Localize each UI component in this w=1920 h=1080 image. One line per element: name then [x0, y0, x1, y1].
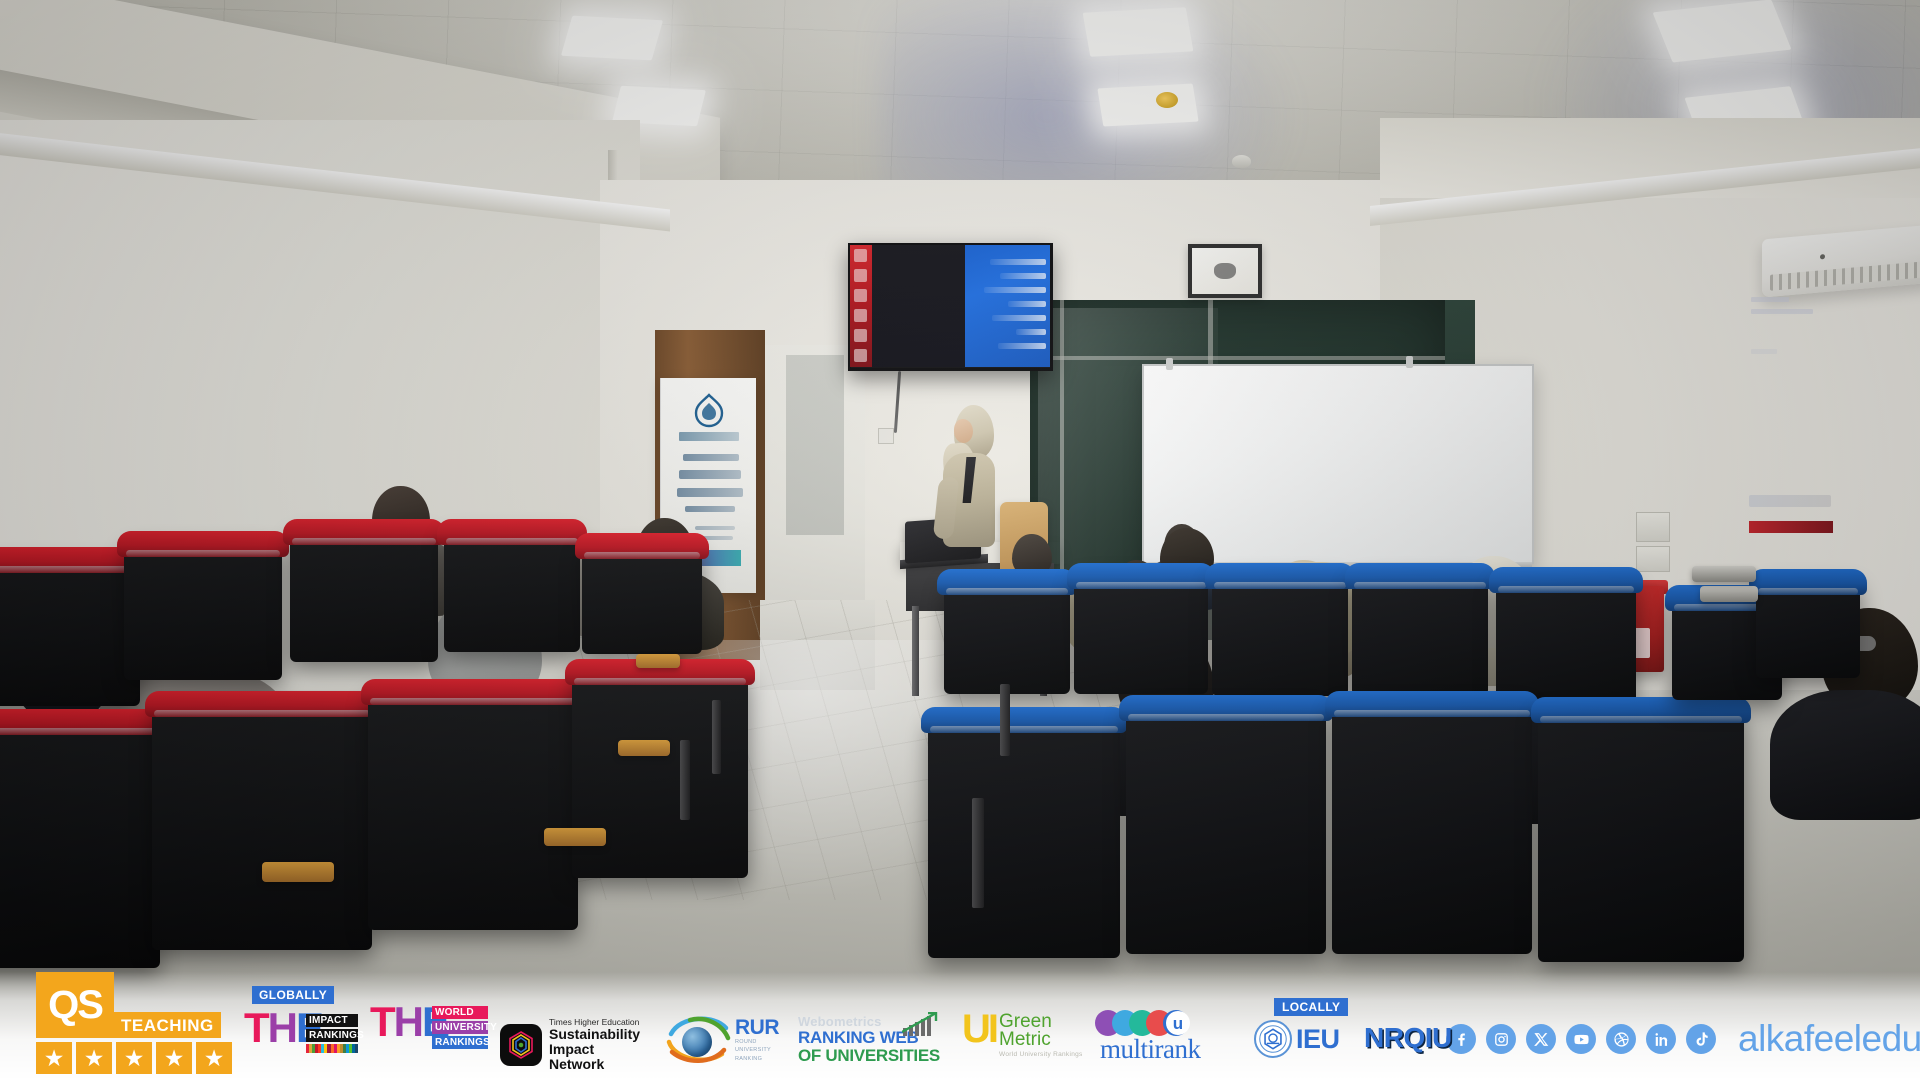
sdg-color-segment [355, 1044, 358, 1053]
auditorium-seat-blue-front[interactable] [1332, 700, 1532, 954]
certificate-seal [1214, 263, 1236, 279]
preview-bar [1016, 329, 1046, 335]
star-icon: ★ [204, 1047, 225, 1070]
whiteboard-mount [1406, 356, 1413, 368]
the-letter-t: T [370, 1004, 394, 1040]
corridor-shadow [786, 355, 844, 535]
ui-mark: UI [962, 1010, 996, 1048]
presenter [930, 405, 1006, 555]
sin-text: Times Higher Education Sustainability Im… [549, 1018, 652, 1073]
event-photograph [0, 0, 1920, 1080]
the-letter-t: T [244, 1010, 268, 1046]
ieu-emblem-glyph [1258, 1024, 1288, 1054]
wur-line-2: UNIVERSITY [432, 1021, 488, 1034]
dribbble-icon[interactable] [1606, 1024, 1636, 1054]
rail-icon-home[interactable] [854, 249, 867, 262]
rail-icon-power[interactable] [854, 329, 867, 342]
impact-rankings-stack: IMPACT RANKINGS [306, 1014, 358, 1053]
growth-chart-icon [902, 1012, 942, 1036]
seat-leg [972, 798, 984, 908]
attendee-shoulders [1770, 690, 1920, 820]
auditorium-seat-blue[interactable] [1756, 578, 1860, 678]
x-twitter-icon[interactable] [1526, 1024, 1556, 1054]
preview-bar [992, 315, 1046, 321]
auditorium-seat-red-front[interactable] [572, 668, 748, 878]
screenshot-root: QS TEACHING ★ ★ ★ ★ ★ GLOBALLY T H E [0, 0, 1920, 1080]
rail-icon-more[interactable] [854, 349, 867, 362]
hex-network-icon [500, 1024, 542, 1066]
qs-star-rating: ★ ★ ★ ★ ★ [36, 1042, 232, 1074]
ceiling-panel-light [1083, 7, 1194, 56]
display-preview-pane [965, 245, 1050, 367]
standee-arabic-line [683, 454, 739, 461]
auditorium-seat-red[interactable] [290, 528, 438, 662]
rail-icon-settings[interactable] [854, 289, 867, 302]
qs-mark-text: QS [48, 985, 102, 1025]
umultirank-badge: u [1166, 1011, 1190, 1035]
rur-text: RUR ROUND UNIVERSITY RANKING [735, 1017, 779, 1063]
ui-greenmetric-logo[interactable]: UI Green Metric World University Ranking… [962, 1010, 1084, 1072]
rur-sub-2: UNIVERSITY [735, 1046, 779, 1054]
standee-subtitle-block [679, 432, 739, 441]
ieu-wordmark: IEU [1296, 1024, 1340, 1054]
seat-armrest [636, 654, 680, 668]
display-menu-title [1749, 495, 1831, 507]
impact-line-2: RANKINGS [306, 1029, 358, 1042]
globally-badge: GLOBALLY [252, 986, 334, 1004]
hex-network-glyph [508, 1031, 534, 1059]
standee-arabic-line [695, 526, 735, 530]
display-menu-item[interactable] [1751, 309, 1813, 314]
social-handle[interactable]: alkafeeleduiq [1738, 1020, 1920, 1058]
auditorium-seat-red-front[interactable] [368, 688, 578, 930]
auditorium-seat-blue[interactable] [1352, 572, 1488, 696]
rur-sub-1: ROUND [735, 1038, 779, 1046]
auditorium-seat-red-front[interactable] [152, 700, 372, 950]
sin-line-2: Impact Network [549, 1042, 652, 1072]
auditorium-seat-red[interactable] [444, 528, 580, 652]
seat-armrest [1700, 586, 1758, 602]
ceiling-panel-light [561, 16, 663, 61]
rur-wordmark: RUR [735, 1017, 779, 1038]
auditorium-seat-red[interactable] [124, 540, 282, 680]
webometrics-line-2: OF UNIVERSITIES [798, 1047, 948, 1065]
ranking-logo-group: QS TEACHING ★ ★ ★ ★ ★ GLOBALLY T H E [18, 972, 1446, 1072]
display-menu-rail[interactable] [850, 245, 872, 367]
qs-star: ★ [156, 1042, 192, 1074]
auditorium-seat-blue[interactable] [1496, 576, 1636, 704]
tiktok-icon[interactable] [1686, 1024, 1716, 1054]
star-icon: ★ [164, 1047, 185, 1070]
sustainability-impact-network-logo[interactable]: Times Higher Education Sustainability Im… [500, 1018, 652, 1073]
ceiling-amber-fixture [1156, 92, 1178, 108]
greenmetric-text: Green Metric World University Rankings [999, 1010, 1083, 1059]
qs-star: ★ [196, 1042, 232, 1074]
auditorium-seat-blue-front[interactable] [1538, 706, 1744, 962]
qs-star: ★ [116, 1042, 152, 1074]
whiteboard-mount [1166, 358, 1173, 370]
youtube-icon[interactable] [1566, 1024, 1596, 1054]
sin-line-1: Sustainability [549, 1027, 652, 1042]
impact-line-1: IMPACT [306, 1014, 358, 1027]
auditorium-seat-blue[interactable] [944, 578, 1070, 694]
preview-bar [1008, 301, 1046, 307]
qs-mark: QS [36, 972, 114, 1038]
qs-category-label: TEACHING [114, 1012, 221, 1038]
the-letter-h: H [268, 1010, 296, 1046]
the-world-university-rankings-logo[interactable]: T H E WORLD UNIVERSITY RANKINGS [370, 992, 486, 1072]
display-menu-item[interactable] [1751, 297, 1789, 302]
ieu-emblem-icon [1254, 1020, 1292, 1058]
greenmetric-word-2: Metric [999, 1031, 1083, 1049]
auditorium-seat-blue-front[interactable] [928, 716, 1120, 958]
auditorium-seat-blue[interactable] [1212, 572, 1348, 696]
wur-line-3: RANKINGS [432, 1036, 488, 1049]
university-emblem [689, 392, 729, 430]
wall-outlet[interactable] [1636, 546, 1670, 572]
seat-armrest [618, 740, 670, 756]
wall-outlet[interactable] [1636, 512, 1670, 542]
rail-icon-close[interactable] [854, 309, 867, 322]
instagram-icon[interactable] [1486, 1024, 1516, 1054]
local-accreditation-group[interactable]: LOCALLY IEU NRQIU [1238, 996, 1446, 1072]
rur-globe-eye-icon [666, 1012, 732, 1068]
star-icon: ★ [124, 1047, 145, 1070]
qs-stars-logo[interactable]: QS TEACHING ★ ★ ★ ★ ★ [18, 972, 230, 1072]
qs-star: ★ [36, 1042, 72, 1074]
desk-leg [912, 606, 919, 696]
wur-line-1: WORLD [432, 1006, 488, 1019]
rail-icon-grid[interactable] [854, 269, 867, 282]
rur-logo[interactable]: RUR ROUND UNIVERSITY RANKING [666, 1008, 784, 1072]
wur-lines: WORLD UNIVERSITY RANKINGS [432, 1006, 488, 1051]
smoke-detector-icon [1232, 155, 1251, 168]
rur-globe [682, 1027, 712, 1057]
preview-bar [998, 343, 1046, 349]
display-menu-selected-row[interactable] [1749, 521, 1833, 533]
preview-bar [1000, 273, 1046, 279]
umultirank-wordmark: multirank [1100, 1034, 1200, 1064]
accreditation-banner: QS TEACHING ★ ★ ★ ★ ★ GLOBALLY T H E [0, 972, 1920, 1080]
presenter-face [954, 419, 973, 443]
seat-armrest [1692, 566, 1756, 582]
greenmetric-subtitle: World University Rankings [999, 1052, 1083, 1059]
seat-leg [1000, 684, 1010, 756]
the-impact-rankings-logo[interactable]: GLOBALLY T H E IMPACT RANKINGS [244, 980, 356, 1072]
social-media-strip: alkafeeleduiq [1446, 1020, 1920, 1072]
rur-sub-3: RANKING [735, 1055, 779, 1063]
nrqiu-wordmark: NRQIU [1364, 1022, 1452, 1054]
ac-indicator-led [1820, 254, 1825, 259]
auditorium-seat-red-front[interactable] [0, 718, 160, 968]
seat-armrest [544, 828, 606, 846]
auditorium-seat-blue-front[interactable] [1126, 704, 1326, 954]
umultirank-logo[interactable]: u multirank [1098, 1008, 1224, 1072]
star-icon: ★ [84, 1047, 105, 1070]
framed-certificate [1188, 244, 1262, 298]
wall-plate [878, 428, 894, 444]
star-icon: ★ [44, 1047, 65, 1070]
ceiling-panel-light [1097, 83, 1198, 126]
standee-arabic-line [677, 488, 743, 497]
the-letter-h: H [394, 1004, 422, 1040]
qs-star: ★ [76, 1042, 112, 1074]
seat-leg [712, 700, 721, 774]
display-menu-footer [1751, 349, 1777, 354]
seat-armrest [262, 862, 334, 882]
auditorium-seat-blue[interactable] [1074, 572, 1208, 694]
display-menu-panel[interactable] [872, 245, 965, 367]
preview-bar [990, 259, 1046, 265]
linkedin-icon[interactable] [1646, 1024, 1676, 1054]
webometrics-logo[interactable]: Webometrics RANKING WEB OF UNIVERSITIES [798, 1014, 948, 1072]
locally-badge: LOCALLY [1274, 998, 1348, 1016]
standee-arabic-line [685, 506, 735, 512]
preview-bar [984, 287, 1046, 293]
auditorium-seat-red[interactable] [582, 542, 702, 654]
auditorium-seat-red[interactable] [0, 556, 140, 706]
seat-leg [680, 740, 690, 820]
standee-arabic-line [679, 470, 741, 479]
sdg-color-bar [306, 1044, 358, 1053]
